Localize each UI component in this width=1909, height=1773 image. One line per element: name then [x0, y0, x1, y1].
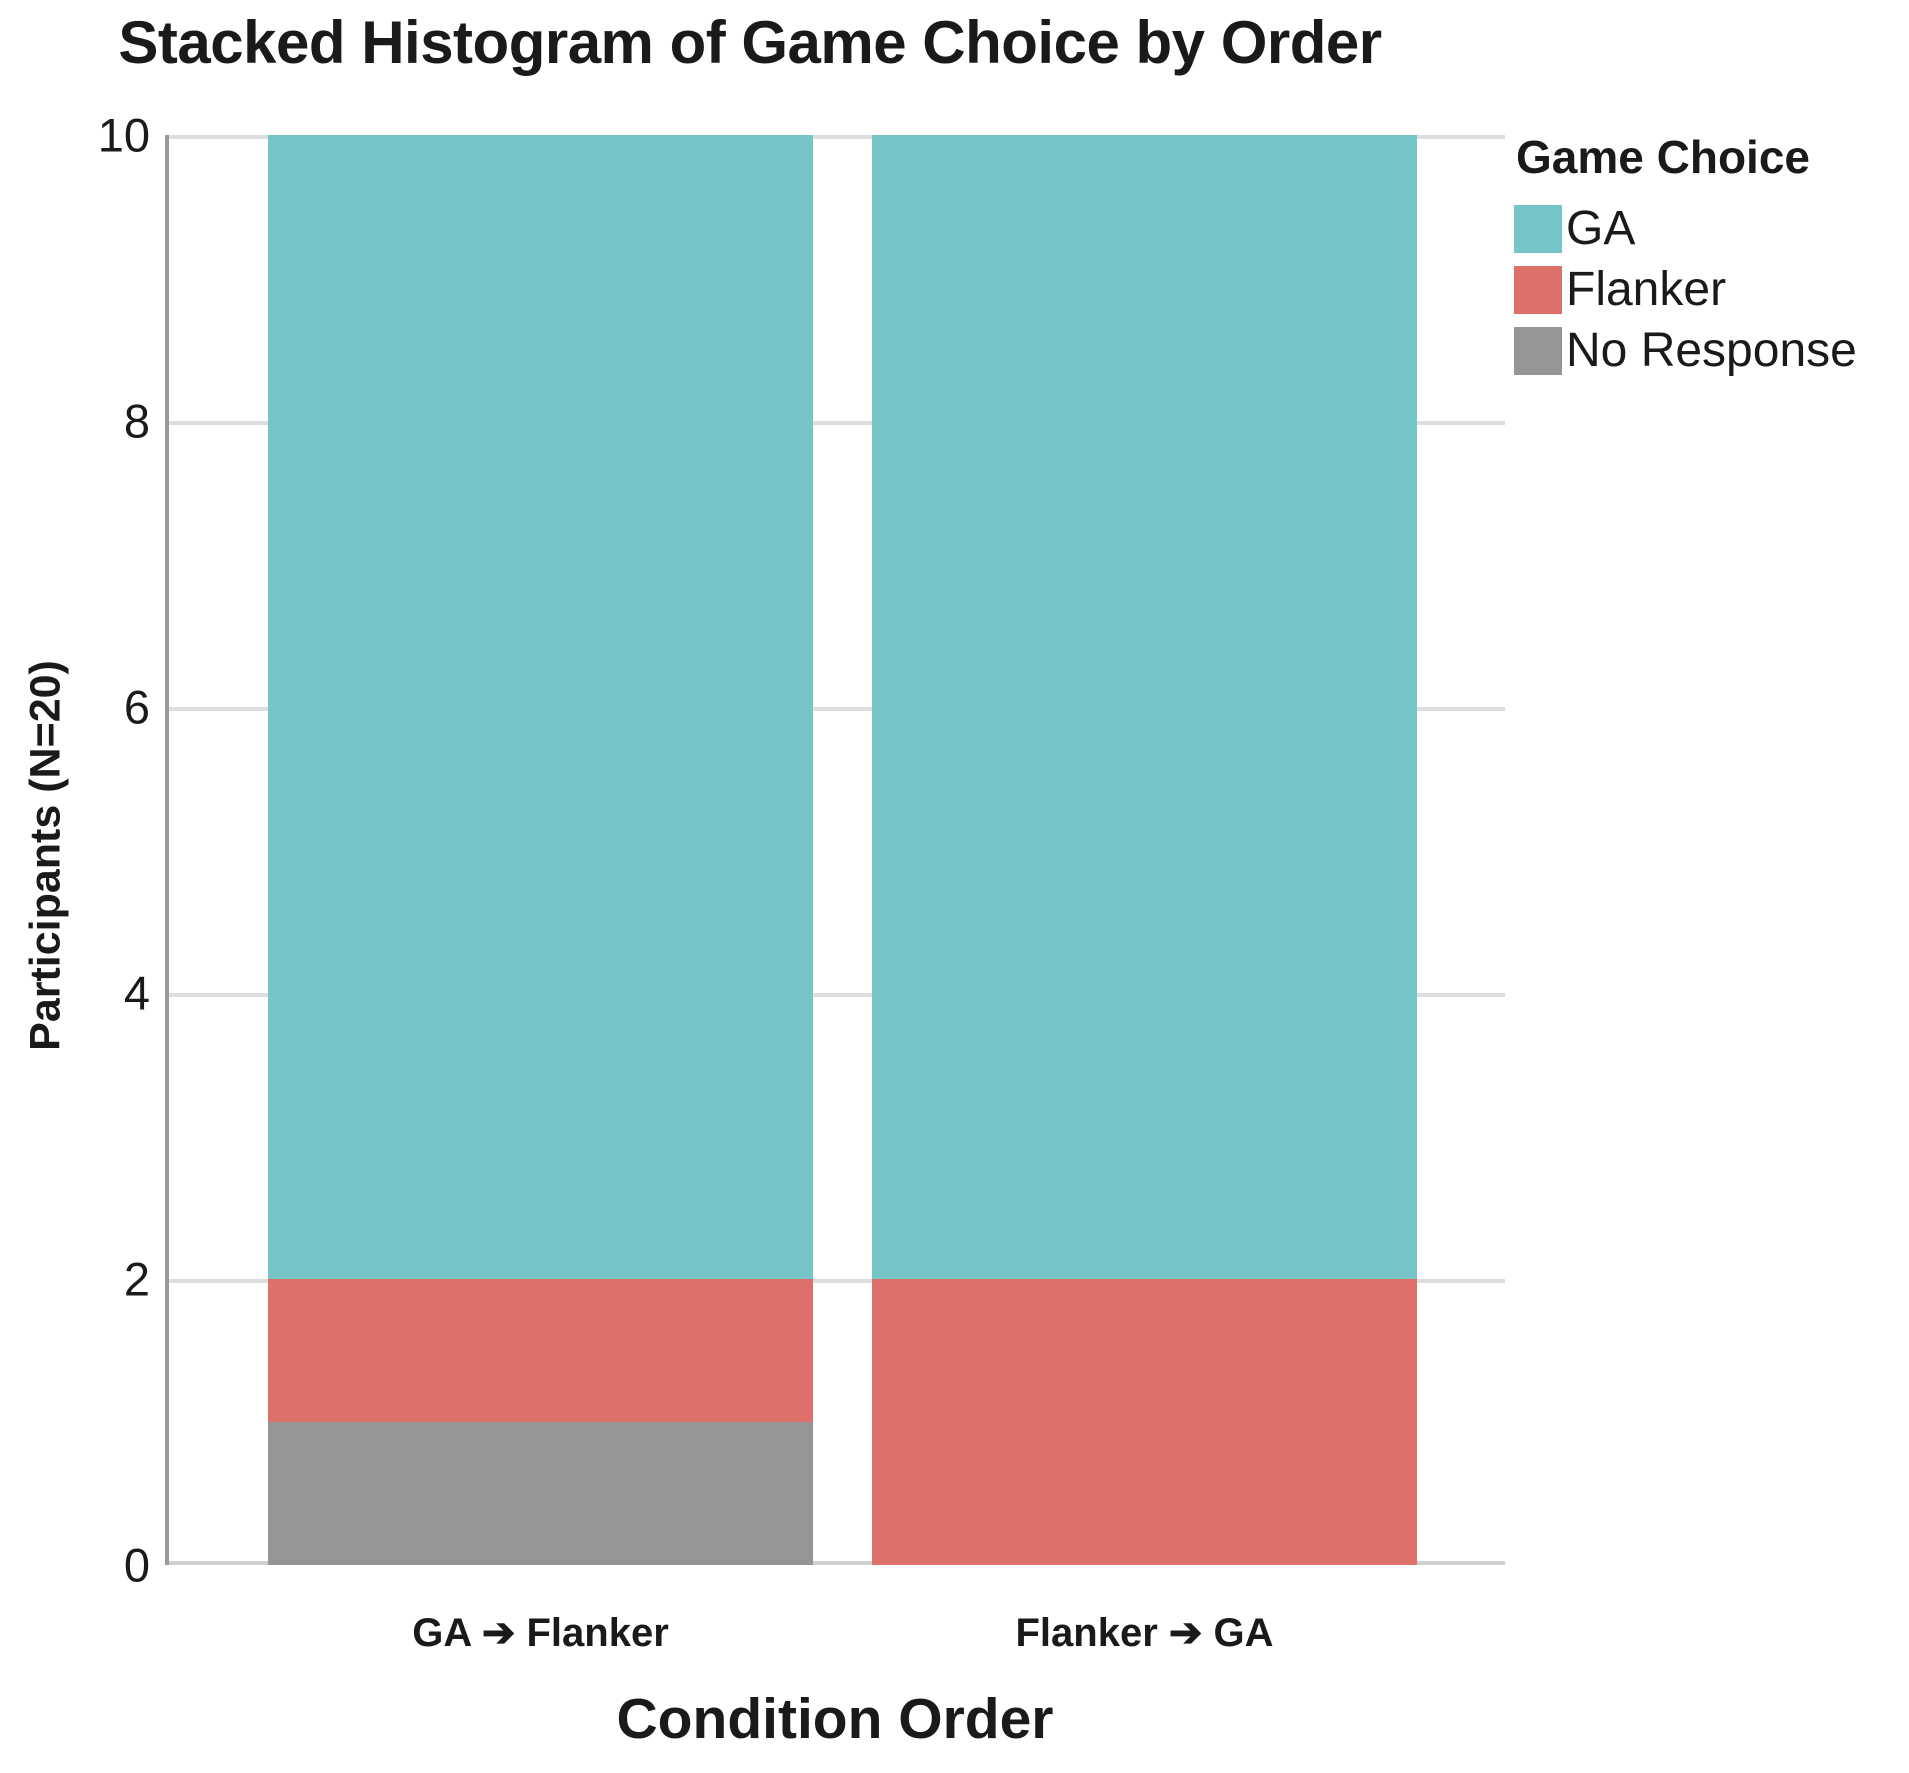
y-tick-label: 10: [40, 112, 150, 159]
legend-item-ga[interactable]: GA: [1514, 198, 1909, 259]
bar-segment-ga[interactable]: [872, 135, 1417, 1279]
legend: Game Choice GA Flanker No Response: [1514, 130, 1909, 381]
x-tick-label-flanker-ga: Flanker ➔ GA: [872, 1610, 1417, 1656]
legend-swatch-icon-no-response: [1514, 327, 1562, 375]
plot-area: [165, 135, 1505, 1565]
page-title: Stacked Histogram of Game Choice by Orde…: [0, 8, 1500, 77]
legend-title: Game Choice: [1516, 130, 1909, 184]
x-axis-title: Condition Order: [165, 1686, 1505, 1752]
x-tick-label-ga-flanker: GA ➔ Flanker: [268, 1610, 813, 1656]
y-axis-title: Participants (N=20): [22, 406, 71, 1306]
legend-label-no-response: No Response: [1566, 327, 1857, 375]
legend-label-flanker: Flanker: [1566, 266, 1726, 314]
legend-item-flanker[interactable]: Flanker: [1514, 259, 1909, 320]
y-axis-spine: [165, 135, 169, 1565]
bar-segment-ga[interactable]: [268, 135, 813, 1279]
legend-swatch-icon-flanker: [1514, 266, 1562, 314]
legend-swatch-icon-ga: [1514, 205, 1562, 253]
bar-segment-flanker[interactable]: [872, 1279, 1417, 1565]
y-tick-label: 0: [40, 1542, 150, 1589]
chart-figure: Stacked Histogram of Game Choice by Orde…: [0, 0, 1909, 1773]
bar-segment-no-response[interactable]: [268, 1422, 813, 1565]
bar-segment-flanker[interactable]: [268, 1279, 813, 1422]
legend-label-ga: GA: [1566, 205, 1635, 253]
legend-item-no-response[interactable]: No Response: [1514, 320, 1909, 381]
